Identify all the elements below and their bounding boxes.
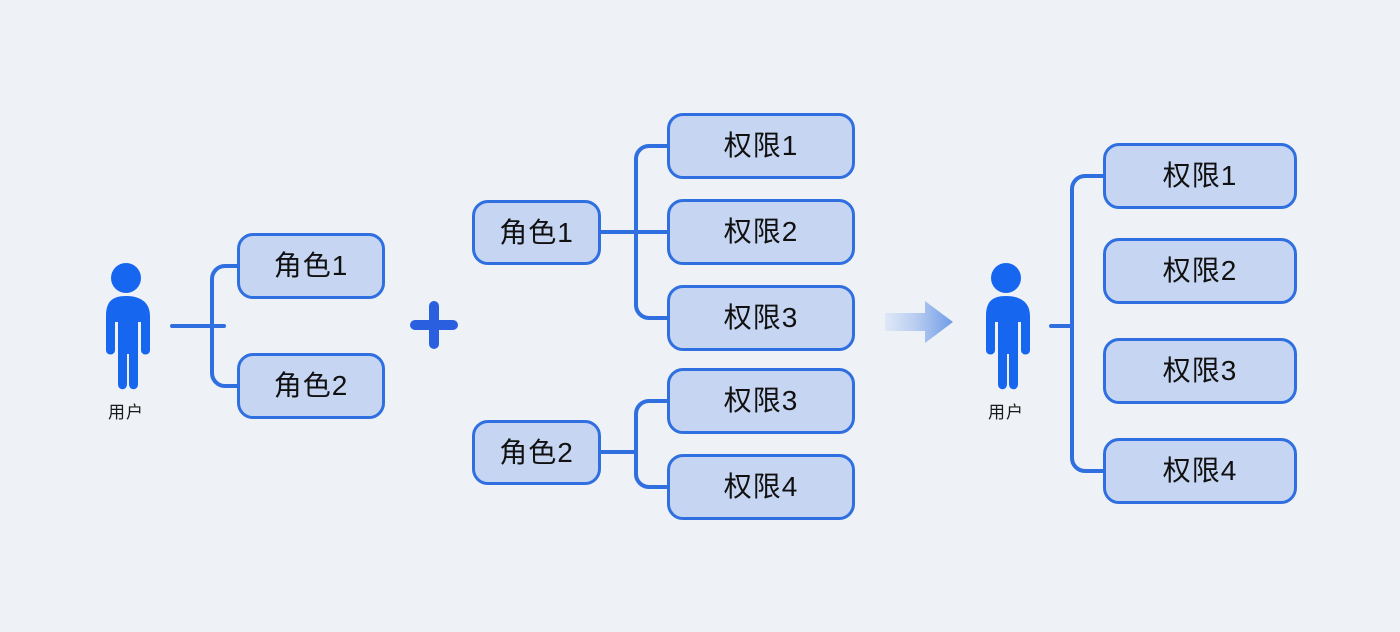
mid-role-label-2: 角色2 [499,439,574,467]
right-perm-label-2: 权限2 [1163,257,1238,285]
right-perm-label-1: 权限1 [1163,162,1238,190]
mid-role-box-1[interactable]: 角色1 [472,200,601,265]
right-perm-label-3: 权限3 [1163,357,1238,385]
mid-role-label-1: 角色1 [499,219,574,247]
diagram-canvas: 用户 角色1 角色2 角色1 权限1 权限2 权限3 角色2 权限3 权限4 [0,0,1400,632]
mid-role-box-2[interactable]: 角色2 [472,420,601,485]
plus-operator [407,298,461,357]
mid-perm-label-2-1: 权限3 [724,387,799,415]
mid-perm-box-2-1[interactable]: 权限3 [667,368,855,434]
right-perm-box-1[interactable]: 权限1 [1103,143,1297,209]
left-user-label: 用户 [108,398,144,423]
mid-perm-box-1-3[interactable]: 权限3 [667,285,855,351]
left-user-actor: 用户 [98,262,154,423]
mid-perm-label-2-2: 权限4 [724,473,799,501]
mid-perm-label-1-1: 权限1 [724,132,799,160]
right-user-label: 用户 [988,398,1024,423]
person-icon [98,262,154,392]
mid-perm-label-1-3: 权限3 [724,304,799,332]
mid-perm-label-1-2: 权限2 [724,218,799,246]
right-perm-box-2[interactable]: 权限2 [1103,238,1297,304]
right-arrow-icon [885,301,953,343]
left-role-box-1[interactable]: 角色1 [237,233,385,299]
right-user-actor: 用户 [978,262,1034,423]
mid-perm-box-1-1[interactable]: 权限1 [667,113,855,179]
left-role-label-1: 角色1 [274,252,349,280]
person-icon [978,262,1034,392]
mid-perm-box-2-2[interactable]: 权限4 [667,454,855,520]
right-perm-box-3[interactable]: 权限3 [1103,338,1297,404]
right-perm-box-4[interactable]: 权限4 [1103,438,1297,504]
left-role-label-2: 角色2 [274,372,349,400]
right-perm-label-4: 权限4 [1163,457,1238,485]
plus-icon [407,298,461,352]
mid-perm-box-1-2[interactable]: 权限2 [667,199,855,265]
left-role-box-2[interactable]: 角色2 [237,353,385,419]
